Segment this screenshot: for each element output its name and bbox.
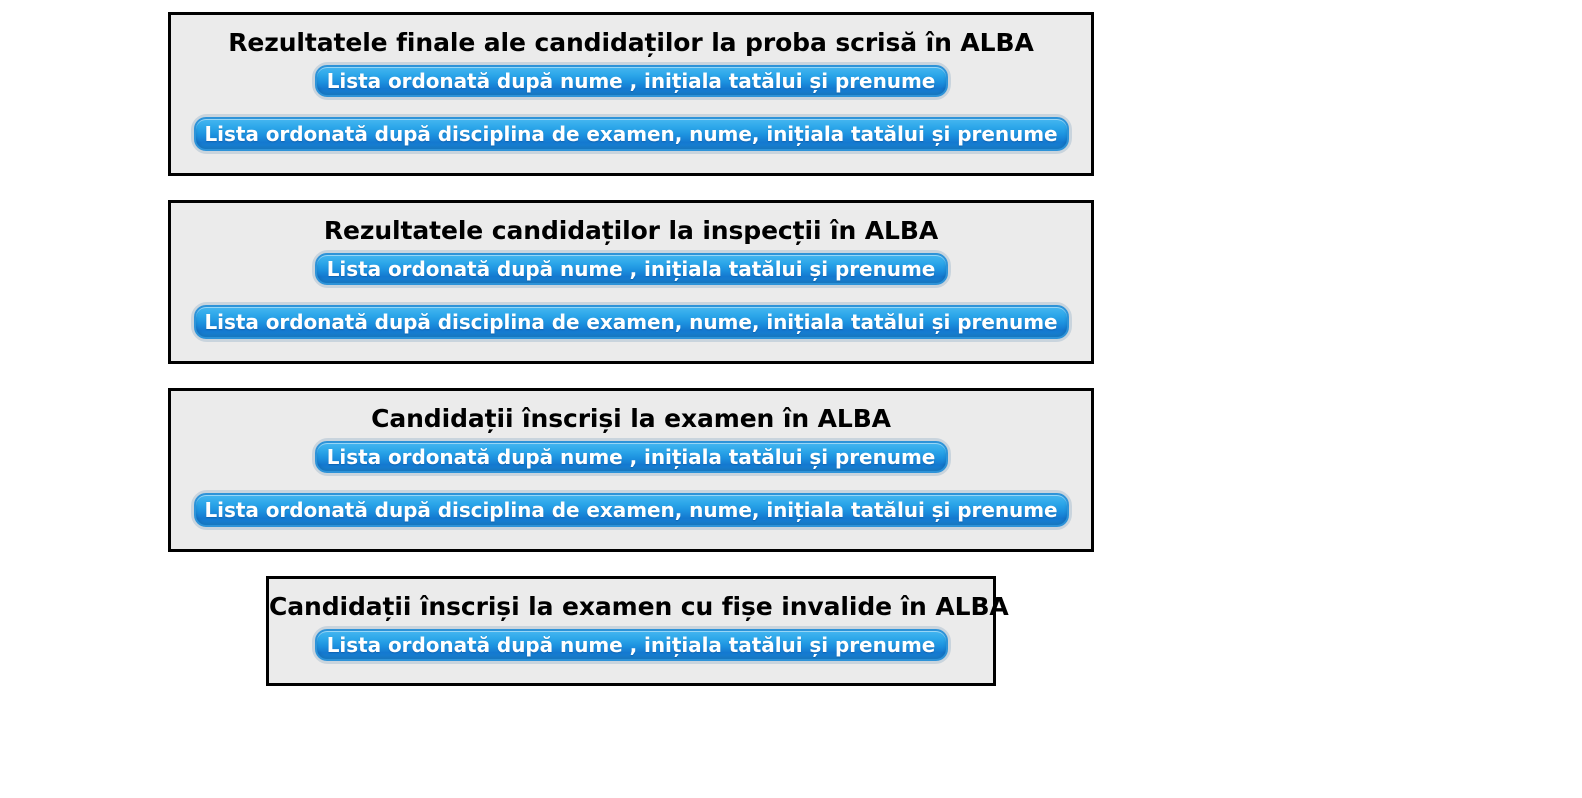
link-sorted-by-name-inspectii[interactable]: Lista ordonată după nume , inițiala tată… [312, 250, 951, 288]
button-label: Lista ordonată după nume , inițiala tată… [327, 447, 936, 467]
button-row: Lista ordonată după nume , inițiala tată… [171, 250, 1091, 288]
button-label: Lista ordonată după disciplina de examen… [204, 312, 1057, 332]
page-title: Rezultatele finale ale candidaților la p… [171, 15, 1091, 58]
link-sorted-by-discipline-inspectii[interactable]: Lista ordonată după disciplina de examen… [191, 302, 1072, 342]
section-candidati-inscrisi: Candidații înscriși la examen în ALBA Li… [168, 388, 1094, 552]
button-row: Lista ordonată după disciplina de examen… [171, 114, 1091, 154]
button-label: Lista ordonată după nume , inițiala tată… [327, 259, 936, 279]
link-sorted-by-discipline-rezultate-finale[interactable]: Lista ordonată după disciplina de examen… [191, 114, 1072, 154]
link-sorted-by-name-candidati-inscrisi[interactable]: Lista ordonată după nume , inițiala tată… [312, 438, 951, 476]
button-surface: Lista ordonată după disciplina de examen… [194, 305, 1069, 339]
button-label: Lista ordonată după disciplina de examen… [204, 500, 1057, 520]
button-surface: Lista ordonată după nume , inițiala tată… [315, 629, 948, 661]
button-label: Lista ordonată după disciplina de examen… [204, 124, 1057, 144]
button-surface: Lista ordonată după disciplina de examen… [194, 117, 1069, 151]
button-surface: Lista ordonată după nume , inițiala tată… [315, 65, 948, 97]
link-sorted-by-name-rezultate-finale[interactable]: Lista ordonată după nume , inițiala tată… [312, 62, 951, 100]
button-row: Lista ordonată după nume , inițiala tată… [171, 438, 1091, 476]
section-candidati-fise-invalide: Candidații înscriși la examen cu fișe in… [266, 576, 996, 686]
button-surface: Lista ordonată după disciplina de examen… [194, 493, 1069, 527]
page-root: Rezultatele finale ale candidaților la p… [0, 0, 1582, 798]
page-title: Candidații înscriși la examen cu fișe in… [269, 579, 993, 622]
section-rezultate-inspectii: Rezultatele candidaților la inspecții în… [168, 200, 1094, 364]
page-title: Candidații înscriși la examen în ALBA [171, 391, 1091, 434]
link-sorted-by-discipline-candidati-inscrisi[interactable]: Lista ordonată după disciplina de examen… [191, 490, 1072, 530]
section-rezultate-finale-proba-scrisa: Rezultatele finale ale candidaților la p… [168, 12, 1094, 176]
button-label: Lista ordonată după nume , inițiala tată… [327, 71, 936, 91]
button-row: Lista ordonată după disciplina de examen… [171, 302, 1091, 342]
button-row: Lista ordonată după nume , inițiala tată… [269, 626, 993, 664]
button-label: Lista ordonată după nume , inițiala tată… [327, 635, 936, 655]
page-title: Rezultatele candidaților la inspecții în… [171, 203, 1091, 246]
link-sorted-by-name-fise-invalide[interactable]: Lista ordonată după nume , inițiala tată… [312, 626, 951, 664]
button-surface: Lista ordonată după nume , inițiala tată… [315, 441, 948, 473]
button-row: Lista ordonată după nume , inițiala tată… [171, 62, 1091, 100]
button-row: Lista ordonată după disciplina de examen… [171, 490, 1091, 530]
button-surface: Lista ordonată după nume , inițiala tată… [315, 253, 948, 285]
